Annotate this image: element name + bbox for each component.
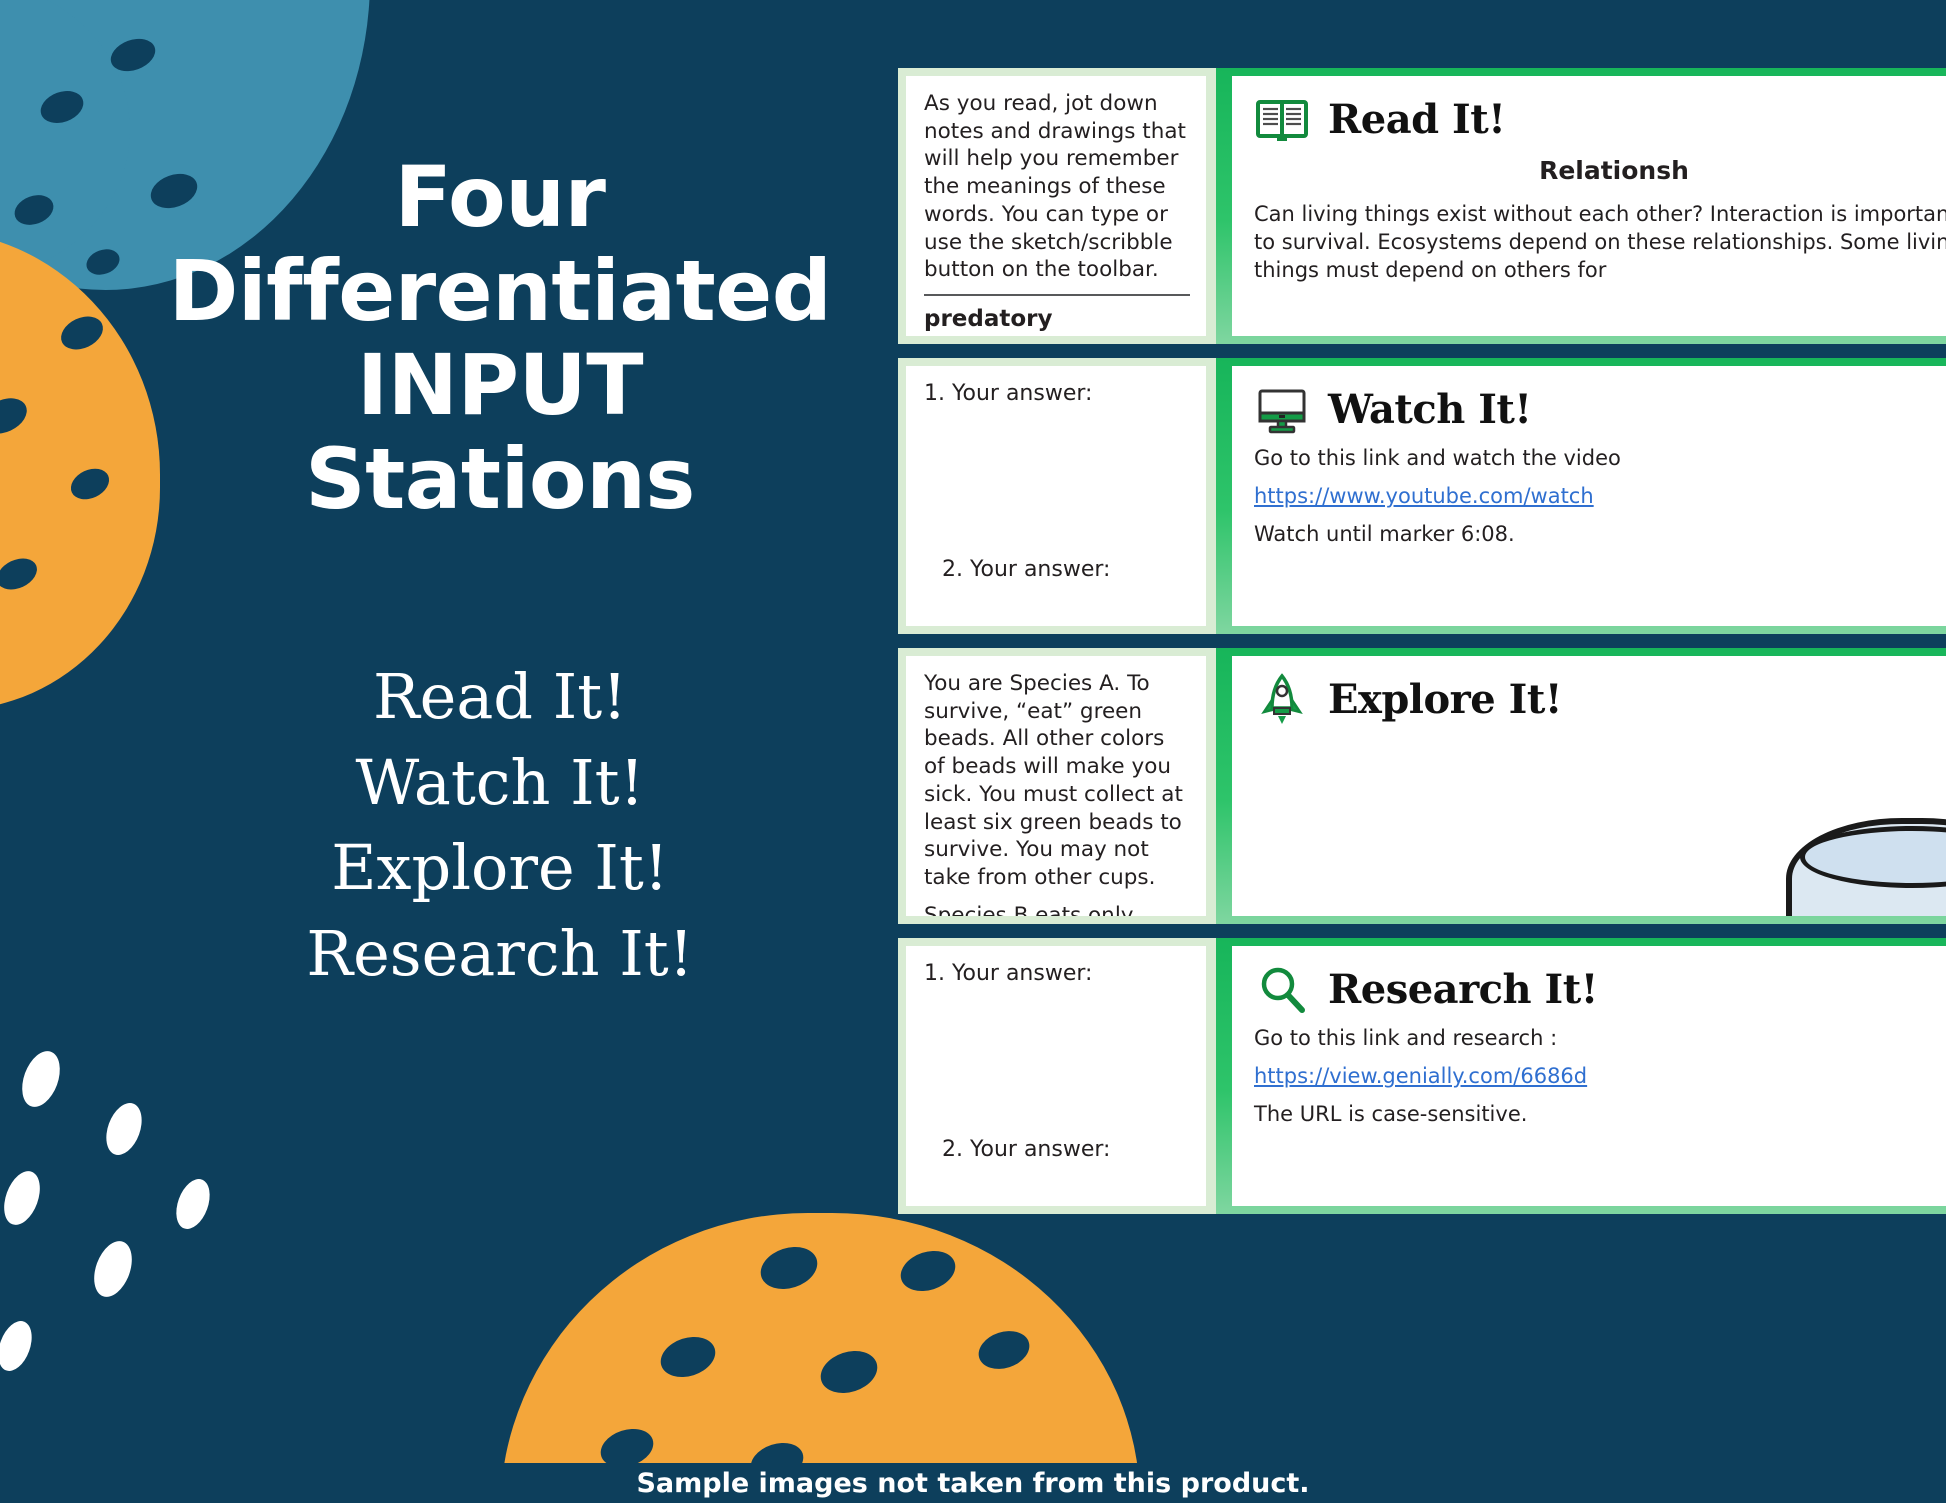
white-dot-decoration [170,1174,216,1233]
notes-instruction-text: As you read, jot down notes and drawings… [924,90,1190,284]
explore-it-card: Explore It! [1216,648,1946,924]
explore-instruction-text-2: Species B eats only green beads. They ne… [924,902,1190,916]
notes-card: As you read, jot down notes and drawings… [898,68,1216,344]
research-it-note: The URL is case-sensitive. [1254,1100,1946,1128]
sample-disclaimer: Sample images not taken from this produc… [0,1468,1946,1499]
research-it-body-text: Go to this link and research : [1254,1024,1946,1052]
open-book-icon [1254,92,1310,148]
answer-prompt-2: 2. Your answer: [942,1136,1110,1164]
orange-blob-bottom-decoration [500,1213,1140,1503]
read-it-card: Read It! Relationsh Can living things ex… [1216,68,1946,344]
read-it-body-text: Can living things exist without each oth… [1254,200,1946,284]
station-item-explore: Explore It! [120,825,880,911]
station-list: Read It! Watch It! Explore It! Research … [120,654,880,996]
title-line-2: Differentiated [120,244,880,338]
station-item-research: Research It! [120,911,880,997]
preview-row-research: 1. Your answer: 2. Your answer: [898,938,1946,1214]
preview-row-read: As you read, jot down notes and drawings… [898,68,1946,344]
genially-link[interactable]: https://view.genially.com/6686d [1254,1064,1587,1088]
watch-it-card: Watch It! Go to this link and watch the … [1216,358,1946,634]
title-line-1: Four [120,150,880,244]
magnifier-icon [1254,962,1310,1018]
white-dot-decoration [100,1098,149,1160]
rocket-icon [1254,672,1310,728]
explore-it-heading: Explore It! [1328,673,1562,727]
white-dot-decoration [0,1166,47,1230]
explore-instruction-card: You are Species A. To survive, “eat” gre… [898,648,1216,924]
watch-it-note: Watch until marker 6:08. [1254,520,1946,548]
preview-row-watch: 1. Your answer: 2. Your answer: [898,358,1946,634]
watch-it-heading: Watch It! [1328,383,1531,437]
answer-prompt-2: 2. Your answer: [942,556,1110,584]
answer-card-watch: 1. Your answer: 2. Your answer: [898,358,1216,634]
research-it-heading: Research It! [1328,963,1598,1017]
answer-prompt-1: 1. Your answer: [924,960,1190,988]
research-it-card: Research It! Go to this link and researc… [1216,938,1946,1214]
vocabulary-word: predatory [924,294,1190,335]
youtube-link[interactable]: https://www.youtube.com/watch [1254,484,1594,508]
preview-card-grid: As you read, jot down notes and drawings… [898,68,1946,1214]
page-title: Four Differentiated INPUT Stations [120,150,880,526]
read-it-subheading: Relationsh [1254,154,1946,188]
sample-disclaimer-text: Sample images not taken from this produc… [622,1465,1323,1502]
left-text-column: Four Differentiated INPUT Stations Read … [120,150,880,997]
white-dot-decoration [15,1046,67,1112]
monitor-icon [1254,382,1310,438]
answer-card-research: 1. Your answer: 2. Your answer: [898,938,1216,1214]
title-line-3: INPUT [120,338,880,432]
cup-illustration [1786,818,1946,916]
preview-row-explore: You are Species A. To survive, “eat” gre… [898,648,1946,924]
station-item-read: Read It! [120,654,880,740]
read-it-heading: Read It! [1328,93,1505,147]
watch-it-body-text: Go to this link and watch the video [1254,444,1946,472]
poster-canvas: Four Differentiated INPUT Stations Read … [0,0,1946,1503]
title-line-4: Stations [120,432,880,526]
white-dot-decoration [0,1316,38,1375]
answer-prompt-1: 1. Your answer: [924,380,1190,408]
explore-instruction-text: You are Species A. To survive, “eat” gre… [924,670,1190,892]
white-dot-decoration [87,1236,139,1302]
station-item-watch: Watch It! [120,740,880,826]
